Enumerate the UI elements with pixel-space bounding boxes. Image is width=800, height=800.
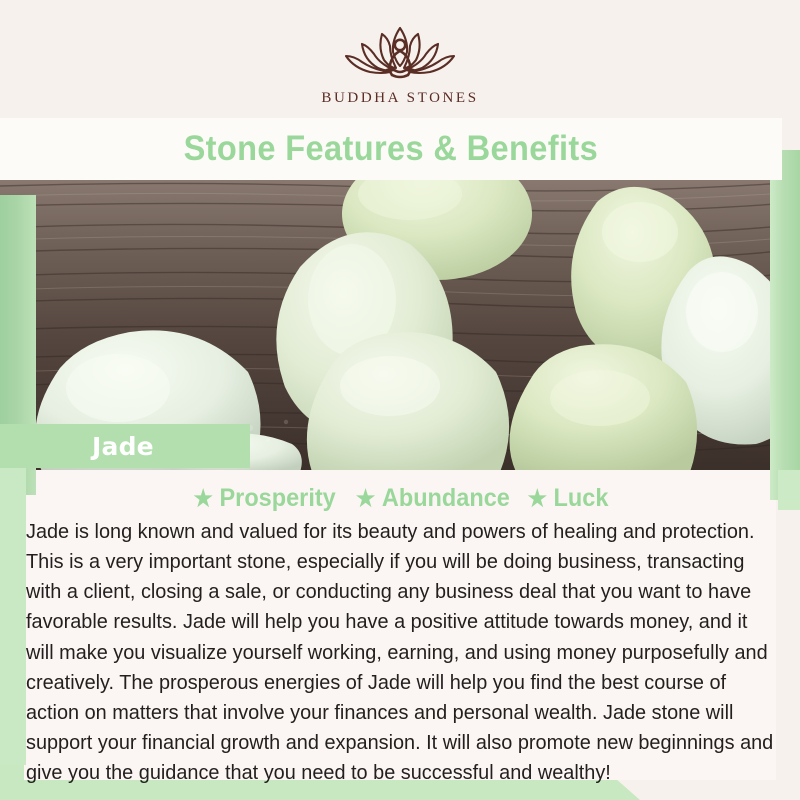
stone-description: Jade is long known and valued for its be… — [26, 517, 775, 788]
decor-green-bar-left-lower — [0, 455, 26, 765]
benefit-label: Abundance — [382, 484, 510, 513]
benefit-label: Luck — [553, 484, 608, 513]
star-icon: ★ — [194, 487, 213, 510]
content-panel: ★ Prosperity ★ Abundance ★ Luck Jade is … — [24, 470, 776, 780]
benefit-item-luck: ★ Luck — [527, 484, 608, 513]
title-band: Stone Features & Benefits — [0, 118, 782, 180]
decor-green-bar-right — [770, 150, 800, 500]
benefit-item-prosperity: ★ Prosperity — [194, 484, 336, 513]
stone-name-label: Jade — [92, 432, 154, 461]
decor-green-bar-right-lower — [778, 470, 800, 510]
star-icon: ★ — [527, 487, 546, 510]
page-title: Stone Features & Benefits — [184, 129, 598, 169]
benefit-label: Prosperity — [220, 484, 336, 513]
star-icon: ★ — [356, 487, 375, 510]
stone-name-badge: Jade — [0, 424, 250, 468]
brand-header: BUDDHA STONES — [0, 0, 800, 118]
infographic-page: BUDDHA STONES Stone Features & Benefits … — [0, 0, 800, 800]
brand-wordmark: BUDDHA STONES — [321, 90, 478, 107]
benefits-row: ★ Prosperity ★ Abundance ★ Luck — [24, 484, 776, 513]
lotus-meditation-icon — [340, 22, 460, 84]
benefit-item-abundance: ★ Abundance — [356, 484, 510, 513]
